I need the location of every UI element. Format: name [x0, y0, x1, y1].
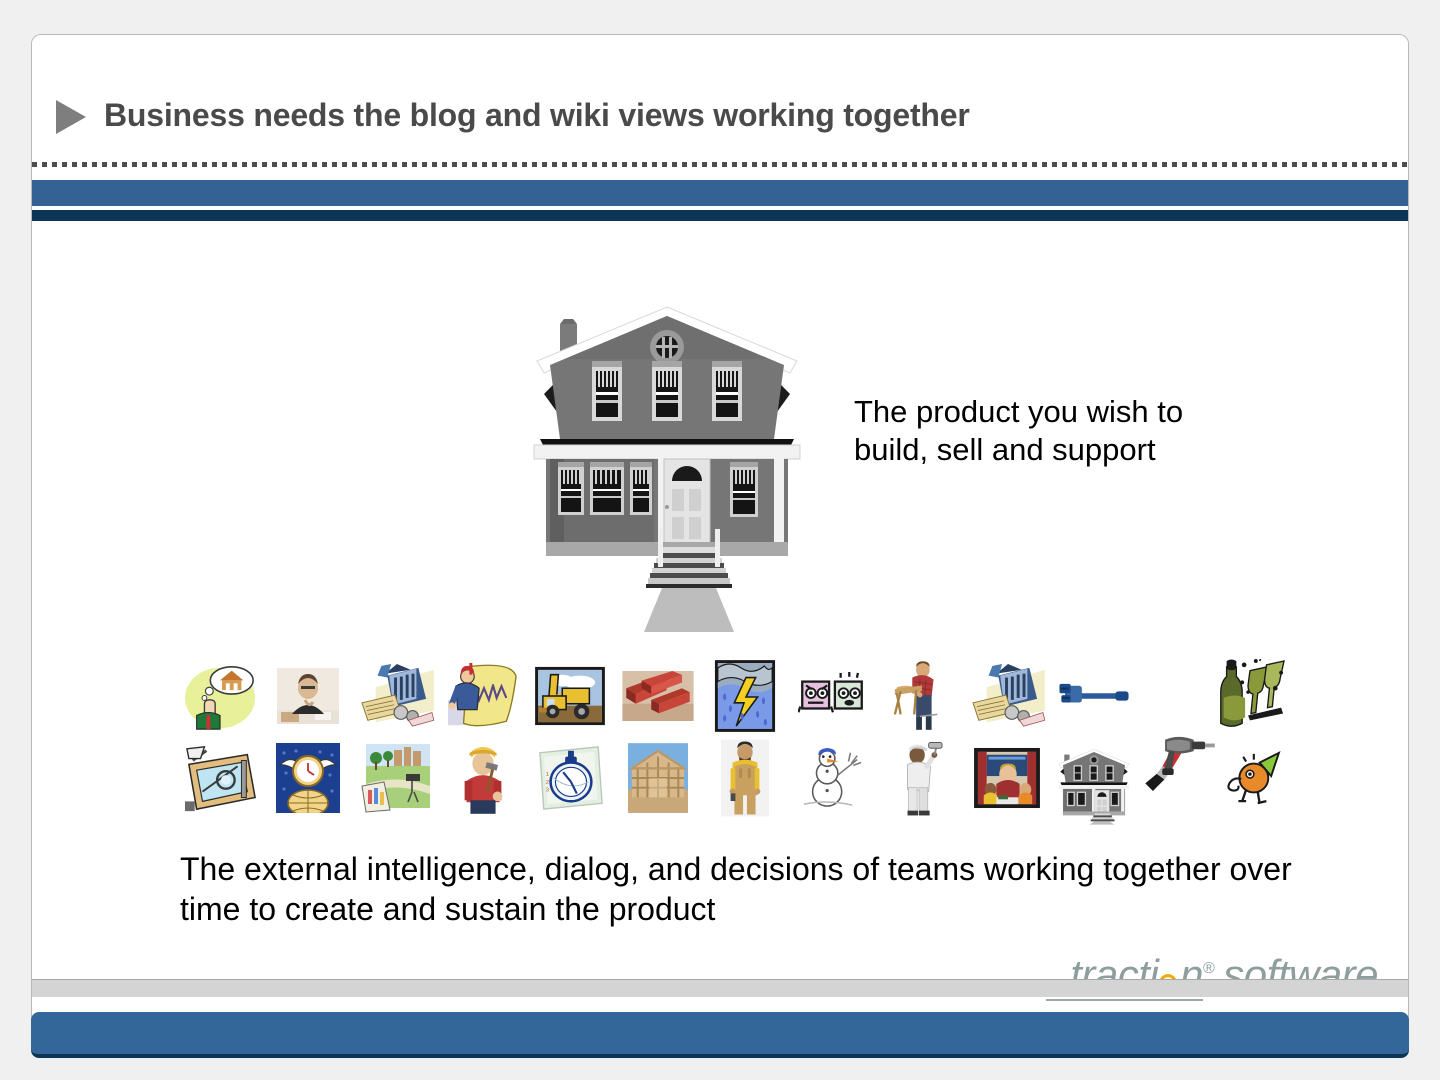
- clipart-column: [355, 655, 437, 819]
- champagne-celebration-icon: [1210, 655, 1288, 737]
- clipart-column: [1208, 655, 1290, 819]
- clipart-column: [267, 655, 349, 819]
- clipart-column: [1141, 655, 1203, 791]
- pipe-wrench-icon: [1055, 655, 1133, 737]
- clipart-column: [180, 655, 262, 819]
- product-caption: The product you wish to build, sell and …: [854, 393, 1184, 469]
- painter-roller-photo: [881, 737, 959, 819]
- clipart-column: [791, 655, 873, 819]
- snowman-icon: [793, 737, 871, 819]
- storm-lightning-icon: [706, 655, 784, 737]
- footer-gray-strip: [32, 979, 1408, 997]
- dump-truck-icon: [531, 655, 609, 737]
- clipart-strip: 123: [180, 655, 1290, 825]
- slide-body: The product you wish to build, sell and …: [32, 221, 1408, 1043]
- meeting-room-icon: [968, 737, 1046, 819]
- lumber-stack-photo: [619, 655, 697, 737]
- party-character-icon: [1210, 737, 1288, 819]
- bottom-caption: The external intelligence, dialog, and d…: [180, 849, 1300, 930]
- dotted-divider: [32, 162, 1408, 167]
- house-small-illustration: [1055, 737, 1133, 833]
- play-triangle-icon: [56, 100, 86, 134]
- person-with-scroll-icon: [444, 655, 522, 737]
- winged-clock-globe-icon: [269, 737, 347, 819]
- title-row: Business needs the blog and wiki views w…: [56, 97, 970, 134]
- worker-with-hammer-photo: [444, 737, 522, 819]
- clipart-column: [1053, 655, 1135, 833]
- bank-documents-icon: [357, 655, 435, 737]
- slide-header: Business needs the blog and wiki views w…: [32, 35, 1408, 140]
- worker-overalls-photo: [706, 737, 784, 819]
- header-bar-secondary: [32, 210, 1408, 221]
- footer-bar: [31, 1012, 1409, 1058]
- svg-text:3: 3: [546, 788, 549, 794]
- clipart-column: [879, 655, 961, 819]
- slide-canvas: Business needs the blog and wiki views w…: [31, 34, 1409, 1044]
- registered-mark: ®: [1203, 960, 1214, 978]
- stopwatch-icon: 123: [531, 737, 609, 819]
- person-thinking-of-house-icon: [182, 655, 260, 737]
- house-framing-photo: [619, 737, 697, 819]
- clipart-column: [442, 655, 524, 819]
- clipart-column: 123: [529, 655, 611, 819]
- carpenter-sawhorse-photo: [881, 655, 959, 737]
- page-title: Business needs the blog and wiki views w…: [104, 97, 970, 134]
- drafting-table-lamp-icon: [182, 737, 260, 819]
- clipart-column: [966, 655, 1048, 819]
- clipart-column: [617, 655, 699, 819]
- header-bar-primary: [32, 180, 1408, 206]
- arguing-faces-icon: [793, 655, 871, 737]
- person-at-desk-photo: [269, 655, 347, 737]
- svg-text:1: 1: [546, 772, 549, 778]
- svg-text:2: 2: [546, 780, 549, 786]
- bank-documents-icon: [968, 655, 1046, 737]
- site-plan-surveyor-icon: [357, 737, 435, 819]
- house-illustration: [522, 299, 812, 634]
- logo-underline: [1046, 999, 1203, 1001]
- clipart-column: [704, 655, 786, 819]
